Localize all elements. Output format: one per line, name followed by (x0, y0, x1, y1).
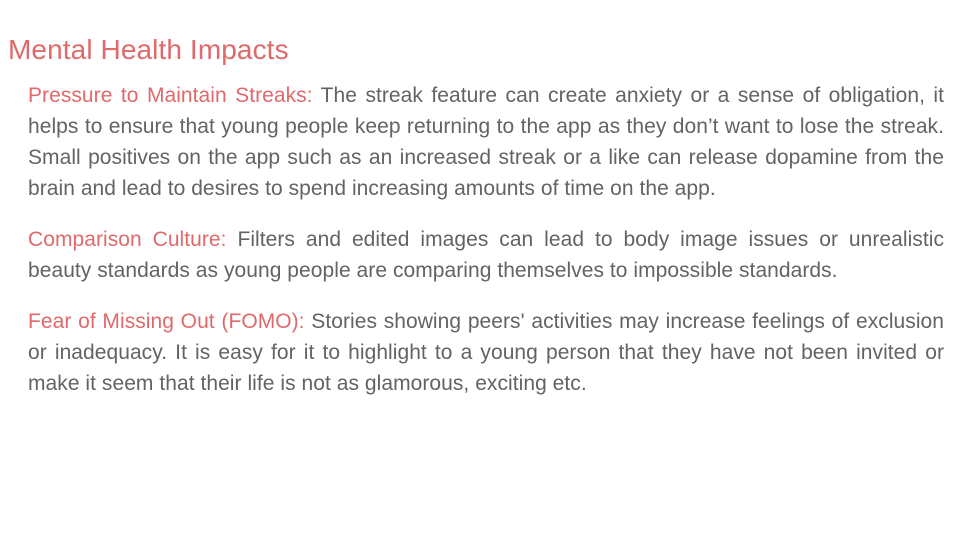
paragraph-pressure-to-maintain-streaks: Pressure to Maintain Streaks: The streak… (28, 80, 944, 204)
body-content: Pressure to Maintain Streaks: The streak… (28, 80, 944, 399)
paragraph-comparison-culture: Comparison Culture: Filters and edited i… (28, 224, 944, 286)
paragraph-lead-in-label: Fear of Missing Out (FOMO): (28, 310, 305, 333)
paragraph-lead-in-label: Comparison Culture: (28, 228, 227, 251)
paragraph-lead-in-label: Pressure to Maintain Streaks: (28, 84, 313, 107)
paragraph-fear-of-missing-out: Fear of Missing Out (FOMO): Stories show… (28, 306, 944, 399)
page-title: Mental Health Impacts (8, 31, 938, 69)
slide-canvas: Mental Health Impacts Pressure to Mainta… (0, 0, 960, 540)
